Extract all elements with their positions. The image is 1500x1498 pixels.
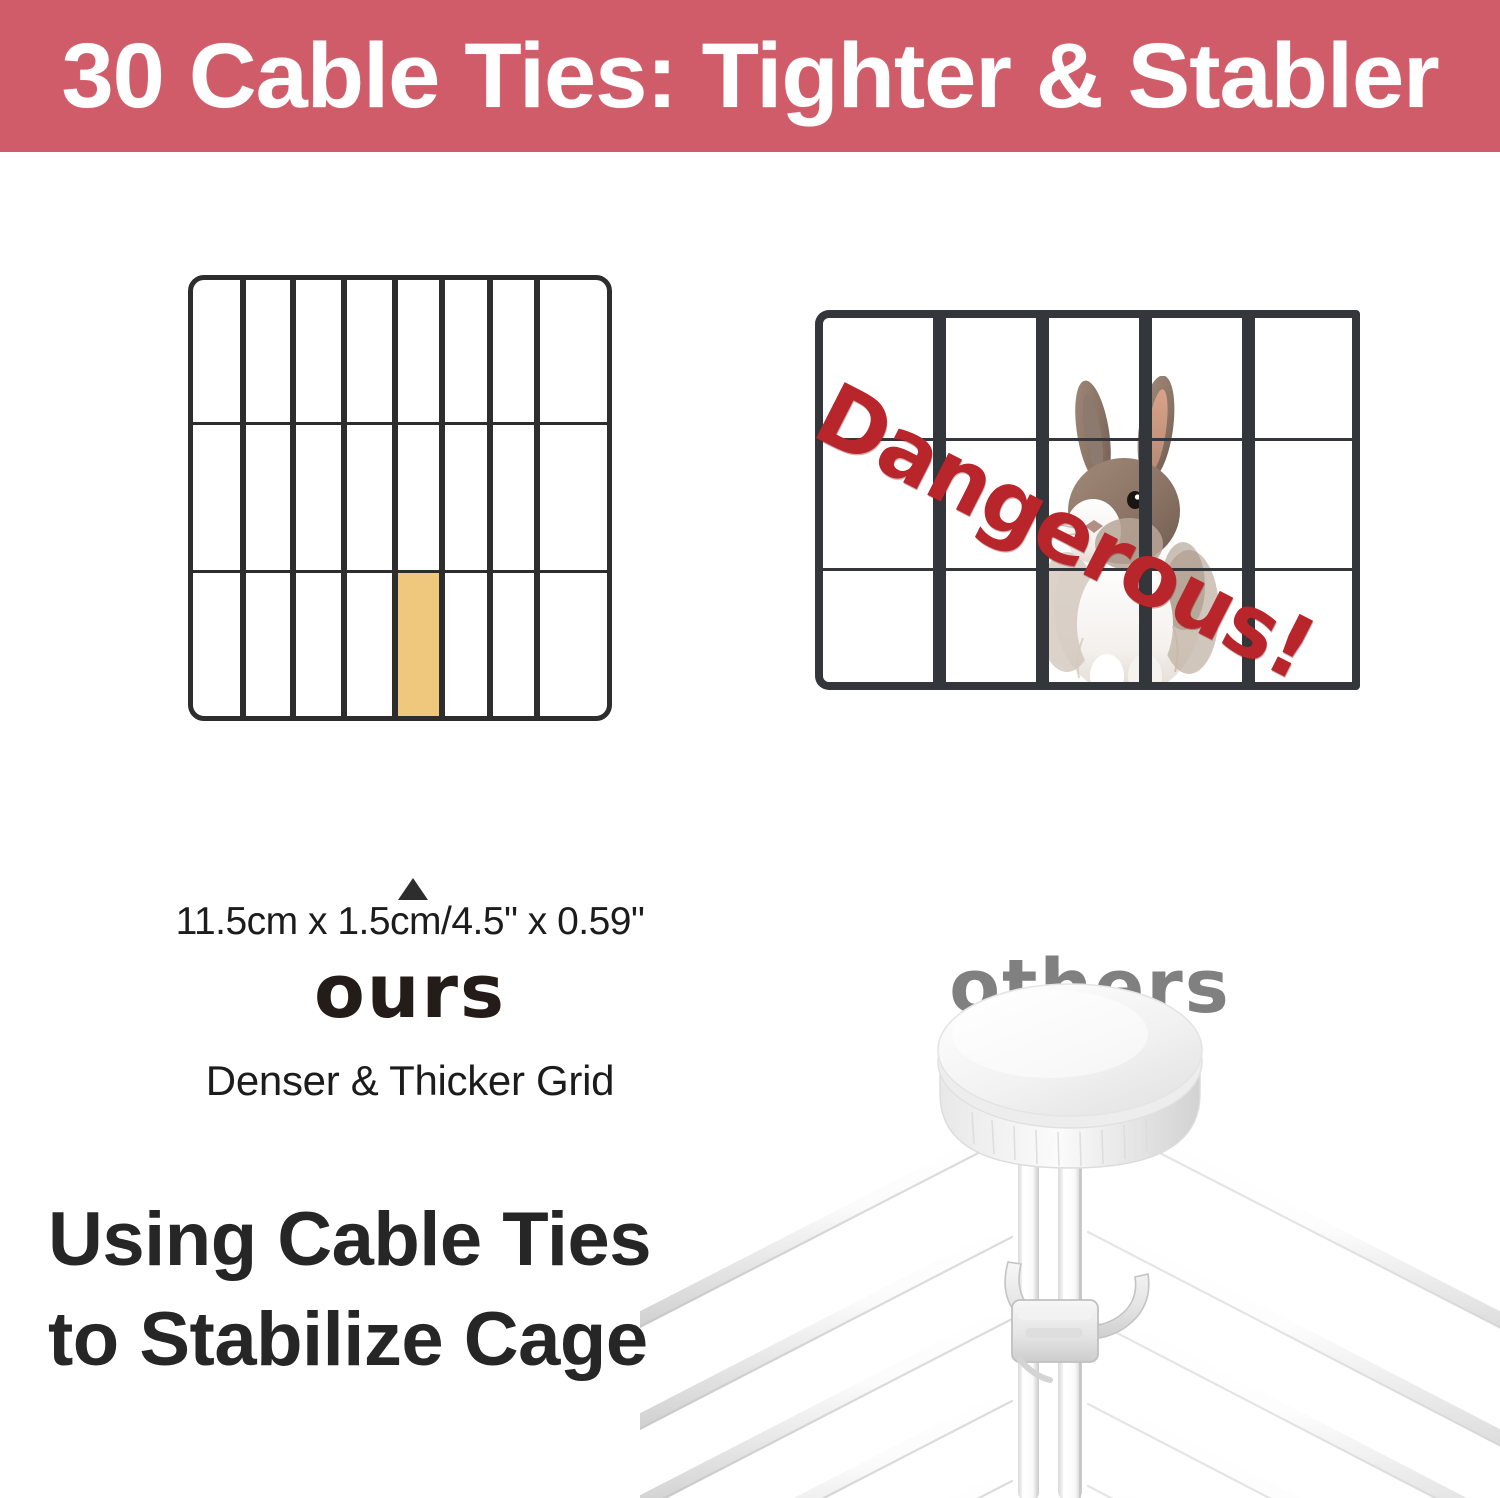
infographic-page: 30 Cable Ties: Tighter & Stabler (0, 0, 1500, 1498)
ours-grid-wrap (188, 275, 612, 721)
header-banner: 30 Cable Ties: Tighter & Stabler (0, 0, 1500, 152)
others-grid-vline (1139, 310, 1152, 690)
ours-grid-vline (392, 280, 398, 716)
ours-grid-vline (487, 280, 493, 716)
ours-grid-diagram (188, 275, 612, 721)
bottom-headline-line2: to Stabilize Cage (48, 1290, 668, 1390)
comparison-section: 11.5cm x 1.5cm/4.5" x 0.59" ours Denser … (0, 152, 1500, 962)
ours-grid-vline (240, 280, 246, 716)
dimension-pointer-icon (398, 878, 428, 900)
bottom-headline-line1: Using Cable Ties (48, 1190, 668, 1290)
ours-dimensions-text: 11.5cm x 1.5cm/4.5" x 0.59" (140, 900, 680, 944)
ours-grid-vline (534, 280, 540, 716)
cage-bars-right (1088, 1140, 1500, 1498)
post-cap (938, 984, 1202, 1168)
ours-grid-vline (290, 280, 296, 716)
cage-corner-photo (640, 962, 1500, 1498)
ours-highlight-cell (395, 572, 441, 719)
ours-grid-hline (193, 570, 607, 573)
bottom-headline: Using Cable Ties to Stabilize Cage (48, 1190, 668, 1391)
cage-bars-left (640, 1140, 1012, 1498)
ours-grid-vline (439, 280, 445, 716)
ours-grid-vline (341, 280, 347, 716)
banner-title: 30 Cable Ties: Tighter & Stabler (61, 30, 1438, 122)
ours-grid-hline (193, 422, 607, 425)
bottom-section: Using Cable Ties to Stabilize Cage (0, 962, 1500, 1498)
